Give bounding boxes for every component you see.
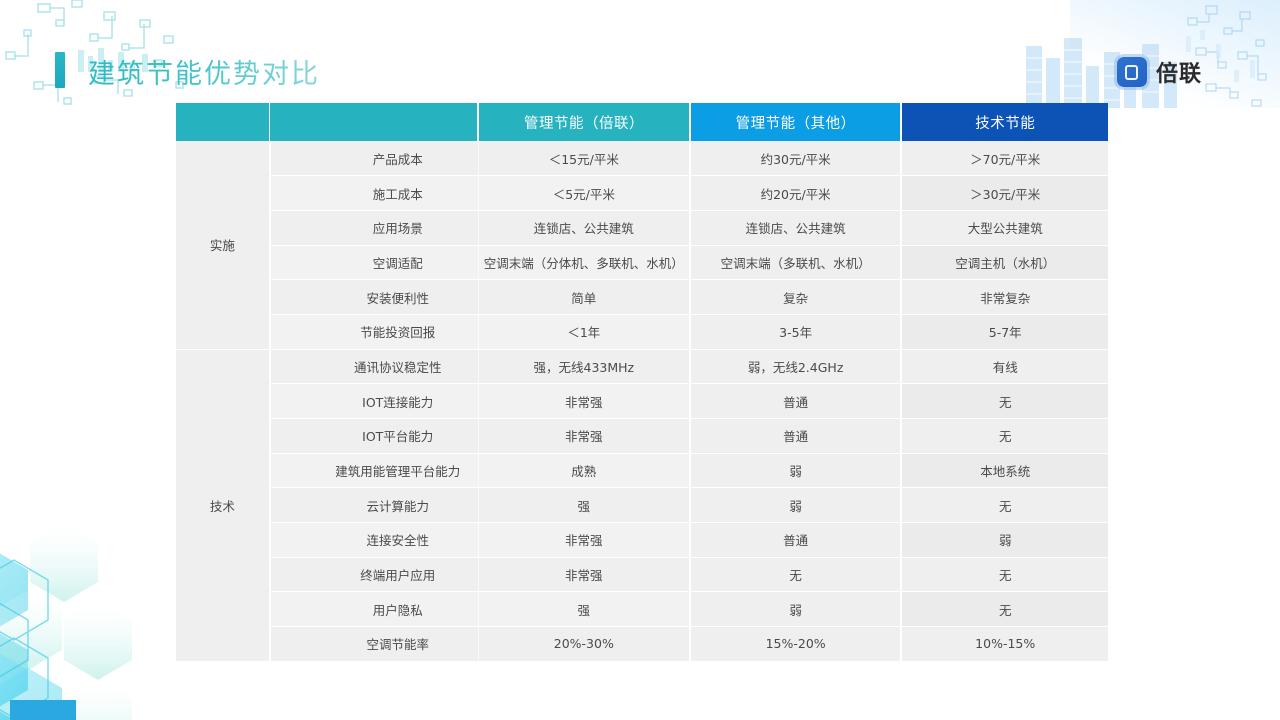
comparison-table: 管理节能（倍联） 管理节能（其他） 技术节能 实施产品成本＜15元/平米约30元… <box>176 103 1108 662</box>
cell-beilian: 连锁店、公共建筑 <box>478 210 690 245</box>
title-accent-bar <box>55 52 65 88</box>
table-row: 安装便利性简单复杂非常复杂 <box>176 280 1108 315</box>
cell-tech: 弱 <box>901 523 1108 558</box>
table-body: 实施产品成本＜15元/平米约30元/平米＞70元/平米施工成本＜5元/平米约20… <box>176 141 1108 661</box>
cell-beilian: 强 <box>478 592 690 627</box>
table-row: 技术通讯协议稳定性强，无线433MHz弱，无线2.4GHz有线 <box>176 349 1108 384</box>
row-item-label: 节能投资回报 <box>270 314 479 349</box>
cell-other: 约30元/平米 <box>690 141 902 176</box>
table-row: IOT平台能力非常强普通无 <box>176 419 1108 454</box>
table-row: 空调节能率20%-30%15%-20%10%-15% <box>176 627 1108 662</box>
cell-other: 无 <box>690 557 902 592</box>
slide-root: 建筑节能优势对比 倍联 管理节能（倍联） 管理节能（其他） 技术节能 实施产品成… <box>0 0 1280 720</box>
row-item-label: 施工成本 <box>270 176 479 211</box>
cell-tech: 有线 <box>901 349 1108 384</box>
cell-beilian: 强，无线433MHz <box>478 349 690 384</box>
table-row: IOT连接能力非常强普通无 <box>176 384 1108 419</box>
cell-other: 普通 <box>690 419 902 454</box>
cell-beilian: 非常强 <box>478 384 690 419</box>
cell-other: 15%-20% <box>690 627 902 662</box>
cell-other: 弱，无线2.4GHz <box>690 349 902 384</box>
skyline-band-top-right <box>1070 0 1280 108</box>
cell-beilian: 强 <box>478 488 690 523</box>
table-row: 连接安全性非常强普通弱 <box>176 523 1108 558</box>
cell-other: 弱 <box>690 592 902 627</box>
header-other: 管理节能（其他） <box>690 103 902 141</box>
row-item-label: 连接安全性 <box>270 523 479 558</box>
header-item <box>270 103 479 141</box>
brand-name: 倍联 <box>1156 56 1202 88</box>
cell-beilian: 成熟 <box>478 453 690 488</box>
cell-tech: 大型公共建筑 <box>901 210 1108 245</box>
cell-beilian: ＜15元/平米 <box>478 141 690 176</box>
cell-tech: 无 <box>901 384 1108 419</box>
cell-tech: 无 <box>901 557 1108 592</box>
page-title: 建筑节能优势对比 <box>88 52 320 91</box>
cell-beilian: 简单 <box>478 280 690 315</box>
table-row: 建筑用能管理平台能力成熟弱本地系统 <box>176 453 1108 488</box>
cell-other: 弱 <box>690 453 902 488</box>
row-item-label: 产品成本 <box>270 141 479 176</box>
cell-beilian: ＜1年 <box>478 314 690 349</box>
cell-other: 连锁店、公共建筑 <box>690 210 902 245</box>
row-item-label: IOT平台能力 <box>270 419 479 454</box>
cell-tech: ＞70元/平米 <box>901 141 1108 176</box>
cell-tech: 空调主机（水机） <box>901 245 1108 280</box>
cell-tech: 10%-15% <box>901 627 1108 662</box>
cell-beilian: 非常强 <box>478 523 690 558</box>
row-item-label: 应用场景 <box>270 210 479 245</box>
table-row: 云计算能力强弱无 <box>176 488 1108 523</box>
cell-tech: 无 <box>901 592 1108 627</box>
cell-tech: 无 <box>901 419 1108 454</box>
corner-accent-block <box>10 700 76 720</box>
table-row: 用户隐私强弱无 <box>176 592 1108 627</box>
cell-other: 空调末端（多联机、水机） <box>690 245 902 280</box>
cell-beilian: 空调末端（分体机、多联机、水机） <box>478 245 690 280</box>
header-beilian: 管理节能（倍联） <box>478 103 690 141</box>
row-item-label: 安装便利性 <box>270 280 479 315</box>
cell-tech: ＞30元/平米 <box>901 176 1108 211</box>
cell-tech: 本地系统 <box>901 453 1108 488</box>
row-item-label: 通讯协议稳定性 <box>270 349 479 384</box>
section-label: 实施 <box>176 141 270 349</box>
table-row: 实施产品成本＜15元/平米约30元/平米＞70元/平米 <box>176 141 1108 176</box>
cell-other: 普通 <box>690 384 902 419</box>
cell-other: 弱 <box>690 488 902 523</box>
row-item-label: 用户隐私 <box>270 592 479 627</box>
table-row: 终端用户应用非常强无无 <box>176 557 1108 592</box>
cell-other: 普通 <box>690 523 902 558</box>
row-item-label: 终端用户应用 <box>270 557 479 592</box>
cell-beilian: 20%-30% <box>478 627 690 662</box>
cell-beilian: ＜5元/平米 <box>478 176 690 211</box>
row-item-label: 建筑用能管理平台能力 <box>270 453 479 488</box>
table-row: 空调适配空调末端（分体机、多联机、水机）空调末端（多联机、水机）空调主机（水机） <box>176 245 1108 280</box>
beilian-logo-icon <box>1117 57 1147 87</box>
row-item-label: 空调节能率 <box>270 627 479 662</box>
brand-logo: 倍联 <box>1117 56 1202 88</box>
header-tech: 技术节能 <box>901 103 1108 141</box>
comparison-table-container: 管理节能（倍联） 管理节能（其他） 技术节能 实施产品成本＜15元/平米约30元… <box>176 103 1108 662</box>
cell-tech: 5-7年 <box>901 314 1108 349</box>
cell-other: 复杂 <box>690 280 902 315</box>
section-label: 技术 <box>176 349 270 661</box>
cell-other: 约20元/平米 <box>690 176 902 211</box>
cell-tech: 非常复杂 <box>901 280 1108 315</box>
row-item-label: IOT连接能力 <box>270 384 479 419</box>
cell-other: 3-5年 <box>690 314 902 349</box>
cell-beilian: 非常强 <box>478 419 690 454</box>
row-item-label: 云计算能力 <box>270 488 479 523</box>
table-row: 应用场景连锁店、公共建筑连锁店、公共建筑大型公共建筑 <box>176 210 1108 245</box>
table-header-row: 管理节能（倍联） 管理节能（其他） 技术节能 <box>176 103 1108 141</box>
table-row: 施工成本＜5元/平米约20元/平米＞30元/平米 <box>176 176 1108 211</box>
cell-beilian: 非常强 <box>478 557 690 592</box>
table-row: 节能投资回报＜1年3-5年5-7年 <box>176 314 1108 349</box>
cell-tech: 无 <box>901 488 1108 523</box>
row-item-label: 空调适配 <box>270 245 479 280</box>
header-section <box>176 103 270 141</box>
